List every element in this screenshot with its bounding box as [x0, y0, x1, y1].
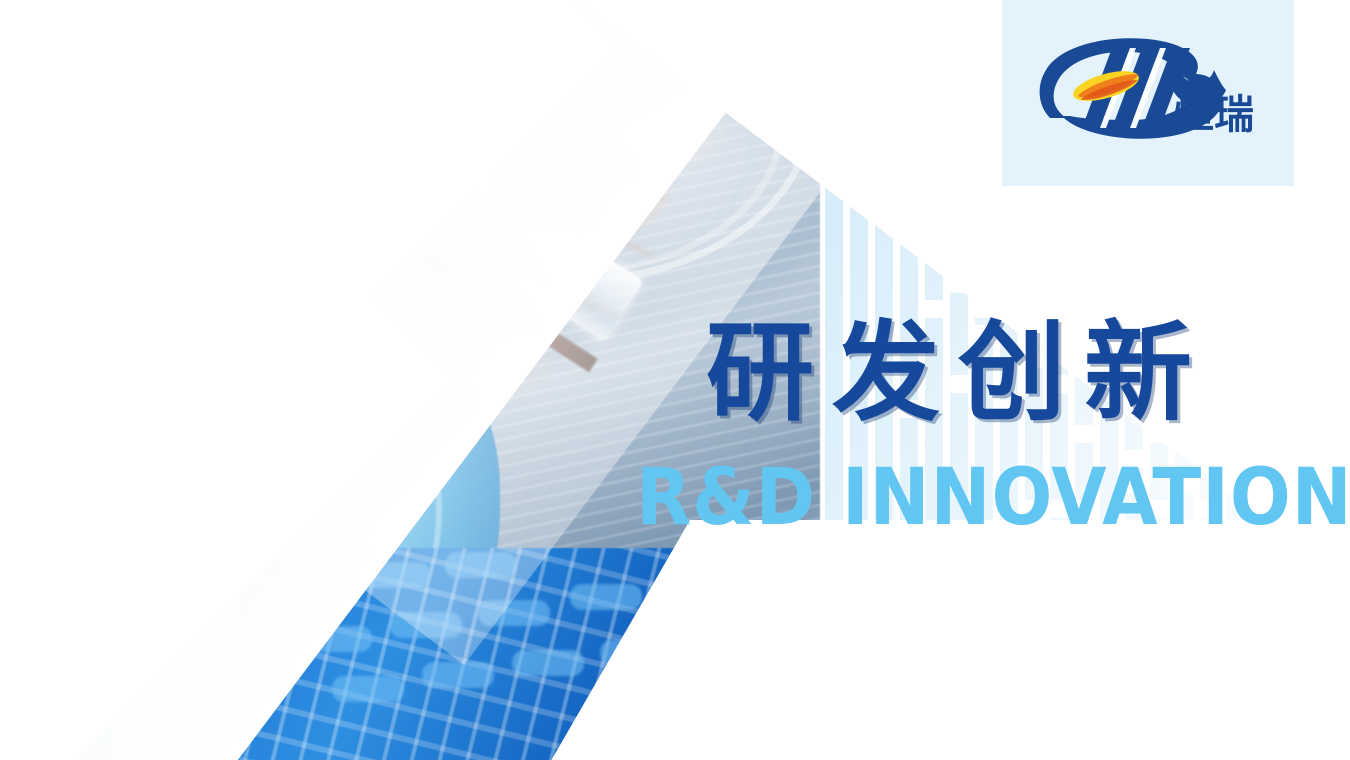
- logo-wordmark: 恒瑞: [1174, 92, 1254, 138]
- headline-chinese: 研发创新: [706, 320, 1310, 428]
- rd-innovation-banner: 恒瑞 研发创新 R&D INNOVATION: [0, 0, 1350, 760]
- logo-panel: 恒瑞: [1002, 0, 1294, 186]
- headline-english: R&D INNOVATION: [636, 459, 1350, 537]
- hengrui-logo[interactable]: 恒瑞: [1026, 36, 1276, 148]
